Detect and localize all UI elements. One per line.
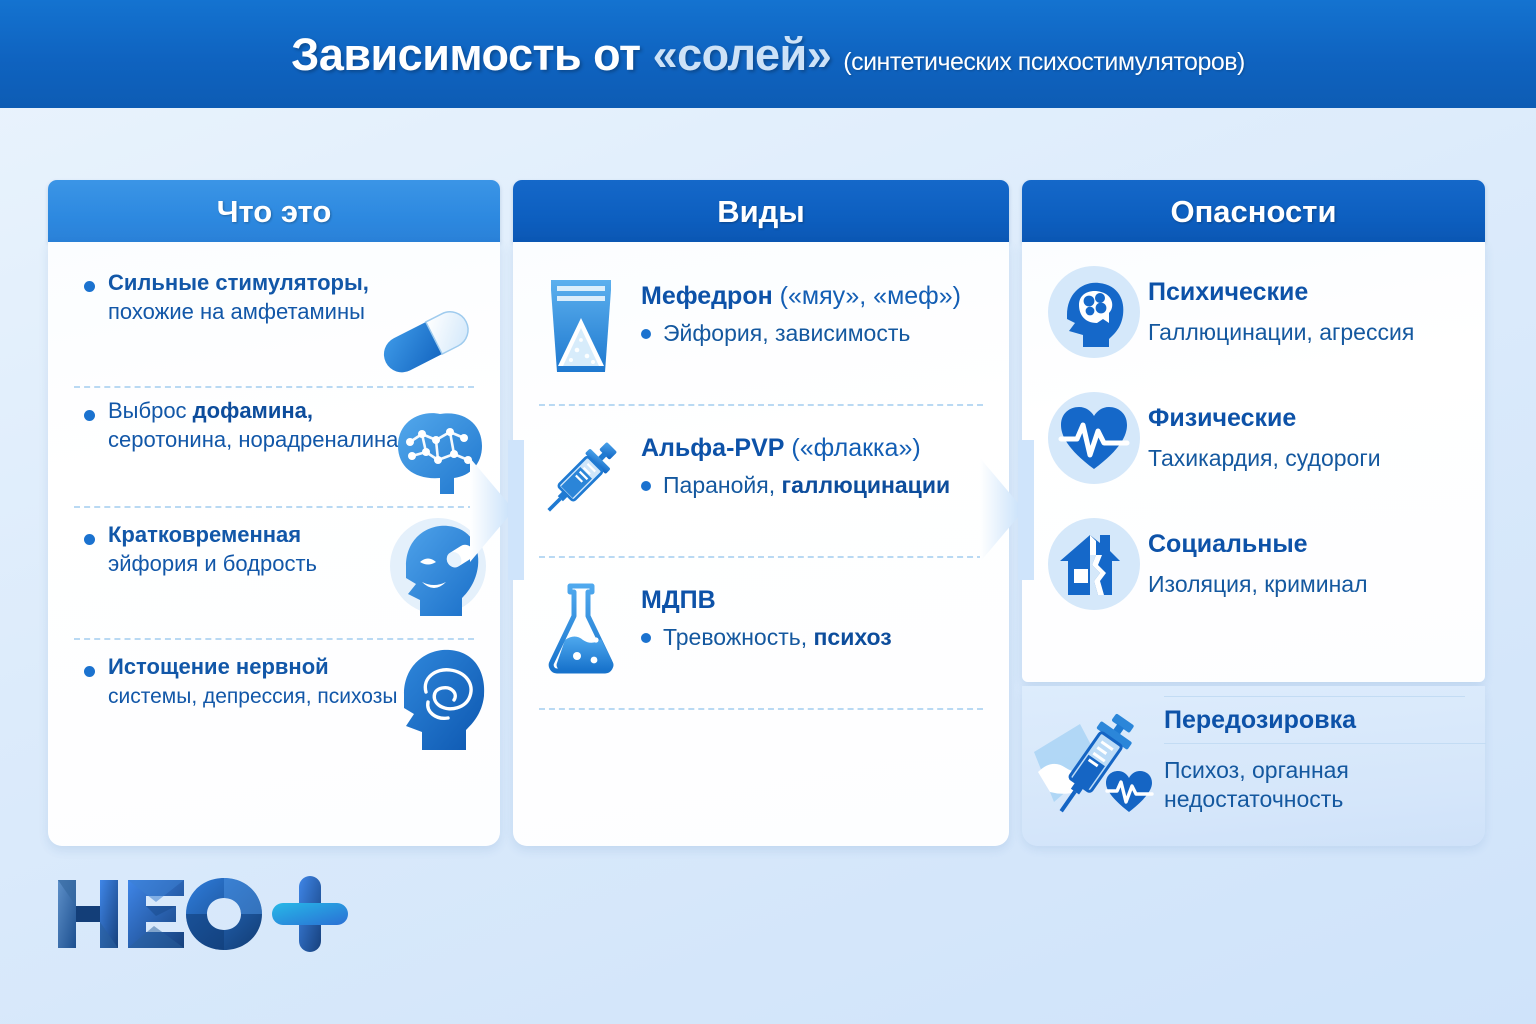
- column-header-types: Виды: [513, 180, 1009, 242]
- type-title: Альфа-PVP («флакка»): [641, 434, 950, 463]
- what-list: Сильные стимуляторы, похожие на амфетами…: [48, 242, 500, 780]
- type-alias: («мяу», «меф»): [773, 282, 961, 310]
- flask-icon: [539, 576, 623, 682]
- what-item-line2: системы, депрессия, психозы: [108, 685, 397, 708]
- danger-list: Психические Галлюцинации, агрессия Физич…: [1022, 242, 1485, 634]
- danger-desc: Галлюцинации, агрессия: [1148, 319, 1471, 347]
- syringe-icon: [539, 424, 623, 530]
- danger-desc: Изоляция, криминал: [1148, 571, 1471, 599]
- what-item-text: Выброс дофамина, серотонина, норадренали…: [80, 388, 410, 455]
- page-header: Зависимость от «солей» (синтетических пс…: [0, 0, 1536, 108]
- list-divider: [539, 404, 983, 406]
- powder-baggie-icon: [539, 272, 623, 378]
- type-effect-plain: Тревожность,: [663, 624, 814, 650]
- overdose-title: Передозировка: [1164, 708, 1486, 744]
- list-item: Психические Галлюцинации, агрессия: [1022, 256, 1485, 382]
- type-name: Альфа-PVP: [641, 434, 784, 462]
- danger-title: Социальные: [1148, 518, 1471, 557]
- overdose-desc-line2: недостаточность: [1164, 786, 1343, 812]
- what-item-line1-plain: Выброс: [108, 398, 193, 423]
- neo-plus-logo: [48, 872, 348, 956]
- type-name: МДПВ: [641, 586, 716, 614]
- column-what-is-it: Что это Сильные стимуляторы, похожие на …: [48, 180, 500, 846]
- what-item-line2: серотонина, норадреналина: [108, 427, 398, 452]
- list-item: Мефедрон («мяу», «меф») Эйфория, зависим…: [513, 272, 1009, 392]
- overdose-panel: Передозировка Психоз, органная недостато…: [1022, 686, 1485, 846]
- pill-capsule-icon: [382, 302, 486, 379]
- syringe-powder-icon: [1030, 706, 1162, 826]
- what-item-line1-bold: дофамина,: [193, 398, 313, 423]
- column-header-what: Что это: [48, 180, 500, 242]
- list-item: Сильные стимуляторы, похожие на амфетами…: [48, 268, 500, 386]
- overdose-top-rule: [1164, 696, 1465, 697]
- column-header-types-label: Виды: [717, 196, 805, 227]
- list-item: МДПВ Тревожность, психоз: [513, 576, 1009, 696]
- type-text: Мефедрон («мяу», «меф») Эйфория, зависим…: [641, 272, 961, 347]
- cracked-house-icon: [1048, 518, 1140, 610]
- type-text: Альфа-PVP («флакка») Паранойя, галлюцина…: [641, 424, 950, 499]
- what-item-text: Кратковременная эйфория и бодрость: [80, 508, 410, 579]
- what-item-text: Сильные стимуляторы, похожие на амфетами…: [80, 268, 410, 327]
- column-header-dangers: Опасности: [1022, 180, 1485, 242]
- type-text: МДПВ Тревожность, психоз: [641, 576, 892, 651]
- head-exhausted-brain-icon: [378, 640, 494, 761]
- page-title-main: Зависимость от: [291, 29, 652, 80]
- what-item-line1: Кратковременная: [108, 522, 301, 547]
- list-item: Альфа-PVP («флакка») Паранойя, галлюцина…: [513, 424, 1009, 544]
- list-divider: [539, 708, 983, 710]
- danger-title: Физические: [1148, 392, 1471, 431]
- column-body-what: Сильные стимуляторы, похожие на амфетами…: [48, 242, 500, 846]
- page-title-quoted: «солей»: [653, 29, 832, 80]
- what-item-text: Истощение нервной системы, депрессия, пс…: [80, 640, 410, 711]
- head-brain-icon: [1048, 266, 1140, 358]
- types-list: Мефедрон («мяу», «меф») Эйфория, зависим…: [513, 242, 1009, 710]
- bullet-dot: [84, 281, 95, 292]
- page-subtitle: (синтетических психостимуляторов): [843, 48, 1245, 76]
- column-header-what-label: Что это: [217, 196, 332, 227]
- danger-desc: Тахикардия, судороги: [1148, 445, 1471, 473]
- flow-arrow-what-to-types: [470, 440, 540, 580]
- flow-arrow-types-to-danger: [980, 440, 1050, 580]
- type-effect: Эйфория, зависимость: [641, 320, 961, 348]
- heart-pulse-icon: [1048, 392, 1140, 484]
- what-item-line1: Сильные стимуляторы,: [108, 270, 369, 295]
- type-effect-plain: Эйфория, зависимость: [663, 320, 910, 346]
- column-dangers: Опасности Психические Галлюцинации,: [1022, 180, 1485, 682]
- type-effect: Паранойя, галлюцинации: [641, 472, 950, 500]
- type-alias: («флакка»): [784, 434, 920, 462]
- what-item-line2: похожие на амфетамины: [108, 299, 365, 324]
- list-item: Физические Тахикардия, судороги: [1022, 382, 1485, 508]
- type-title: Мефедрон («мяу», «меф»): [641, 282, 961, 311]
- danger-title: Психические: [1148, 266, 1471, 305]
- list-item: Выброс дофамина, серотонина, норадренали…: [48, 388, 500, 506]
- column-types: Виды: [513, 180, 1009, 846]
- overdose-desc: Психоз, органная недостаточность: [1164, 756, 1424, 814]
- what-item-line1: Истощение нервной: [108, 654, 329, 679]
- column-header-dangers-label: Опасности: [1170, 196, 1336, 227]
- list-item: Кратковременная эйфория и бодрость: [48, 508, 500, 638]
- bullet-dot: [84, 666, 95, 677]
- column-body-dangers: Психические Галлюцинации, агрессия Физич…: [1022, 242, 1485, 682]
- bullet-dot: [84, 410, 95, 421]
- list-item: Социальные Изоляция, криминал: [1022, 508, 1485, 634]
- list-divider: [539, 556, 983, 558]
- type-name: Мефедрон: [641, 282, 773, 310]
- type-title: МДПВ: [641, 586, 892, 615]
- heart-pulse-small-icon: [1106, 771, 1152, 812]
- overdose-desc-line1: Психоз, органная: [1164, 757, 1349, 783]
- type-effect-bold: галлюцинации: [781, 472, 950, 498]
- type-effect-bold: психоз: [814, 624, 892, 650]
- overdose-inner: Передозировка Психоз, органная недостато…: [1022, 686, 1485, 846]
- bullet-dot: [84, 534, 95, 545]
- column-body-types: Мефедрон («мяу», «меф») Эйфория, зависим…: [513, 242, 1009, 846]
- list-item: Истощение нервной системы, депрессия, пс…: [48, 640, 500, 780]
- page-title: Зависимость от «солей» (синтетических пс…: [291, 32, 1245, 77]
- type-effect-plain: Паранойя,: [663, 472, 781, 498]
- type-effect: Тревожность, психоз: [641, 624, 892, 652]
- what-item-line2: эйфория и бодрость: [108, 551, 317, 576]
